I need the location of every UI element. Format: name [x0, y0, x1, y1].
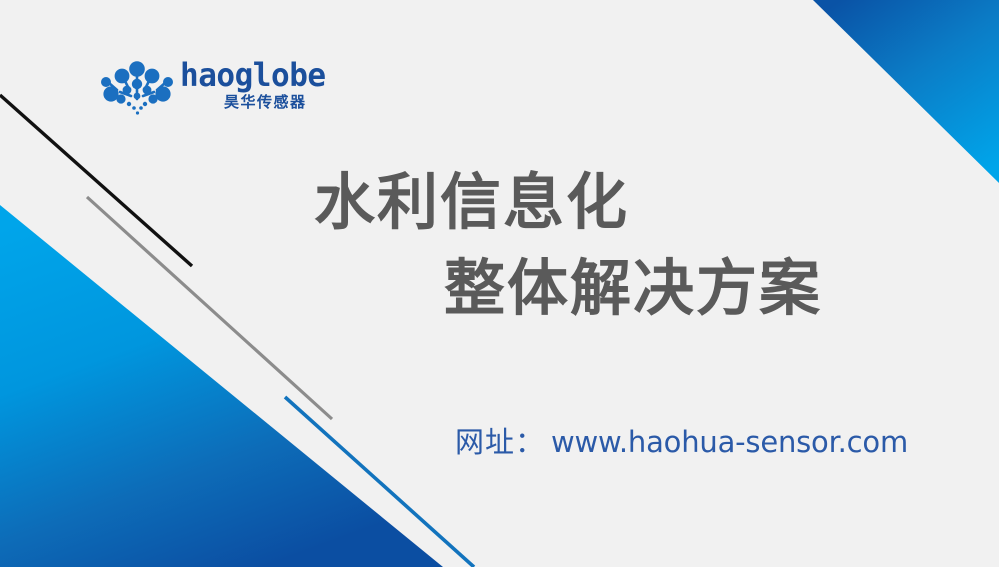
molecule-network-dots-icon [98, 59, 176, 117]
presentation-title-slide: haoglobe 昊华传感器 水利信息化 整体解决方案 网址：www.haohu… [0, 0, 999, 567]
website-line: 网址：www.haohua-sensor.com [455, 420, 908, 470]
logo-wordmark: haoglobe [180, 58, 326, 92]
logo-subtitle: 昊华传感器 [224, 93, 307, 111]
title-line-1: 水利信息化 [314, 160, 900, 246]
title-line-2: 整体解决方案 [444, 246, 900, 332]
logo-text-group: haoglobe 昊华传感器 [180, 57, 316, 117]
website-url[interactable]: www.haohua-sensor.com [551, 425, 908, 459]
company-logo: haoglobe 昊华传感器 [98, 57, 318, 119]
slide-title: 水利信息化 整体解决方案 [300, 160, 900, 332]
website-label: 网址： [455, 425, 545, 459]
